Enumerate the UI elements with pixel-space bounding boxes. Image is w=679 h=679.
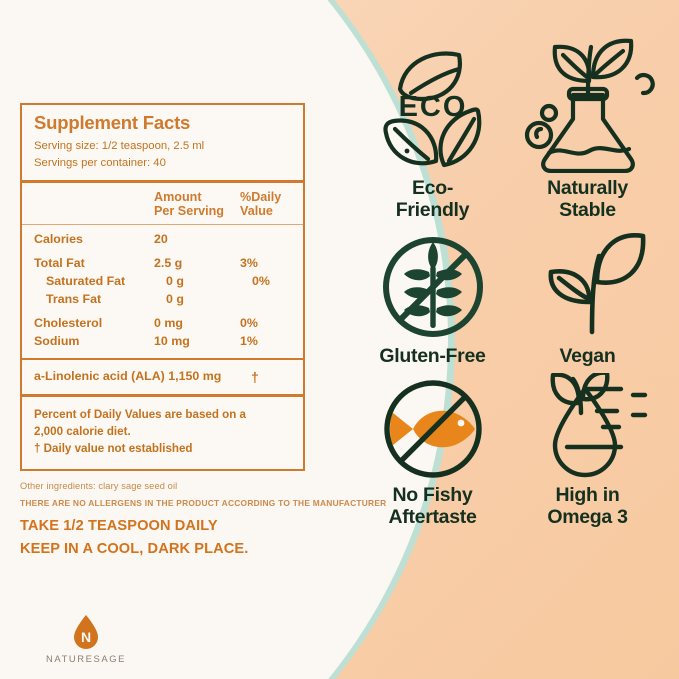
- nutrient-rows: Calories20Total Fat2.5 g3%Saturated Fat0…: [22, 225, 303, 358]
- nutrient-amount: 2.5 g: [154, 255, 240, 273]
- directions-line-2: KEEP IN A COOL, DARK PLACE.: [20, 538, 248, 561]
- badge-naturally-stable: Naturally Stable: [510, 28, 665, 222]
- nutrient-daily-value: 0%: [252, 273, 291, 291]
- header-amount-line2: Per Serving: [154, 204, 240, 218]
- eco-icon-text: ECO: [398, 91, 467, 123]
- header-amount-line1: Amount: [154, 190, 240, 204]
- badge-gluten-free: Gluten-Free: [355, 228, 510, 368]
- eco-leaves-icon: ECO: [364, 28, 502, 178]
- footnote-block: Percent of Daily Values are based on a 2…: [22, 397, 303, 469]
- other-ingredients-text: Other ingredients: clary sage seed oil: [20, 481, 177, 491]
- omega3-droplet-icon: [523, 373, 653, 485]
- badge-label-gluten-free: Gluten-Free: [379, 346, 485, 368]
- nutrient-amount: 0 mg: [154, 315, 240, 333]
- badge-label-naturally-stable: Naturally Stable: [547, 178, 628, 222]
- badge-label-no-fishy-aftertaste: No Fishy Aftertaste: [388, 485, 476, 529]
- vegan-plant-icon: [529, 228, 647, 346]
- badge-label-line1: High in: [547, 485, 627, 507]
- badge-high-in-omega-3: High in Omega 3: [510, 373, 665, 529]
- nutrient-row: Total Fat2.5 g3%: [34, 255, 291, 273]
- nutrient-daily-value: 0%: [240, 315, 291, 333]
- header-nutrient-col: [34, 190, 154, 218]
- nutrient-amount: 20: [154, 231, 240, 249]
- no-fish-icon: [377, 373, 489, 485]
- footnote-line-3: † Daily value not established: [34, 440, 291, 457]
- servings-per-container-text: Servings per container: 40: [34, 155, 291, 171]
- nutrient-name: Saturated Fat: [34, 273, 166, 291]
- nutrient-daily-value: [252, 291, 291, 309]
- flask-plant-icon: [519, 28, 657, 178]
- supplement-facts-header: Supplement Facts Serving size: 1/2 teasp…: [22, 105, 303, 180]
- nutrient-name: Total Fat: [34, 255, 154, 273]
- nutrient-row: Saturated Fat0 g0%: [34, 273, 291, 291]
- nutrient-table-header: Amount Per Serving %Daily Value: [22, 183, 303, 224]
- droplet-logo-icon: N: [71, 614, 101, 650]
- nutrient-daily-value: 1%: [240, 333, 291, 351]
- directions-text: TAKE 1/2 TEASPOON DAILY KEEP IN A COOL, …: [20, 515, 248, 560]
- ala-row: a-Linolenic acid (ALA) 1,150 mg †: [22, 360, 303, 394]
- badge-no-fishy-aftertaste: No Fishy Aftertaste: [355, 373, 510, 529]
- brand-wordmark: NATURESAGE: [26, 653, 146, 664]
- directions-line-1: TAKE 1/2 TEASPOON DAILY: [20, 515, 248, 538]
- nutrient-daily-value: [240, 231, 291, 249]
- badge-label-line1: Naturally: [547, 178, 628, 200]
- badge-label-vegan: Vegan: [560, 346, 616, 368]
- badge-vegan: Vegan: [510, 228, 665, 368]
- nutrient-name: Cholesterol: [34, 315, 154, 333]
- feature-badges-grid: ECO Eco- Friendly: [355, 28, 665, 529]
- serving-size-text: Serving size: 1/2 teaspoon, 2.5 ml: [34, 138, 291, 154]
- nutrient-row: Trans Fat0 g: [34, 291, 291, 309]
- no-gluten-wheat-icon: [374, 228, 492, 346]
- brand-logo: N NATURESAGE: [26, 614, 146, 664]
- ala-dagger: †: [251, 369, 291, 385]
- badge-label-high-in-omega-3: High in Omega 3: [547, 485, 627, 529]
- nutrient-amount: 0 g: [166, 291, 252, 309]
- nutrient-name: Calories: [34, 231, 154, 249]
- badge-label-line1: Eco-: [396, 178, 469, 200]
- header-dv-line2: Value: [240, 204, 291, 218]
- nutrient-name: Sodium: [34, 333, 154, 351]
- badge-label-line2: Aftertaste: [388, 507, 476, 529]
- supplement-facts-title: Supplement Facts: [34, 113, 291, 132]
- header-dv-line1: %Daily: [240, 190, 291, 204]
- badge-eco-friendly: ECO Eco- Friendly: [355, 28, 510, 222]
- badge-label-eco-friendly: Eco- Friendly: [396, 178, 469, 222]
- ala-label: a-Linolenic acid (ALA) 1,150 mg: [34, 369, 251, 385]
- badge-label-line1: Vegan: [560, 346, 616, 368]
- badge-label-line1: Gluten-Free: [379, 346, 485, 368]
- badge-label-line2: Friendly: [396, 200, 469, 222]
- footnote-line-2: 2,000 calorie diet.: [34, 423, 291, 440]
- nutrient-amount: 10 mg: [154, 333, 240, 351]
- badge-label-line2: Stable: [547, 200, 628, 222]
- nutrient-row: Calories20: [34, 231, 291, 249]
- allergen-statement-text: THERE ARE NO ALLERGENS IN THE PRODUCT AC…: [20, 498, 387, 508]
- nutrient-name: Trans Fat: [34, 291, 166, 309]
- supplement-facts-panel: Supplement Facts Serving size: 1/2 teasp…: [20, 103, 305, 471]
- nutrient-amount: 0 g: [166, 273, 252, 291]
- badge-label-line1: No Fishy: [388, 485, 476, 507]
- header-amount-col: Amount Per Serving: [154, 190, 240, 218]
- badge-label-line2: Omega 3: [547, 507, 627, 529]
- nutrient-row: Sodium10 mg1%: [34, 333, 291, 351]
- nutrient-row: Cholesterol0 mg0%: [34, 315, 291, 333]
- product-label-image: Supplement Facts Serving size: 1/2 teasp…: [0, 0, 679, 679]
- nutrient-daily-value: 3%: [240, 255, 291, 273]
- footnote-line-1: Percent of Daily Values are based on a: [34, 406, 291, 423]
- svg-text:N: N: [81, 629, 91, 645]
- header-dv-col: %Daily Value: [240, 190, 291, 218]
